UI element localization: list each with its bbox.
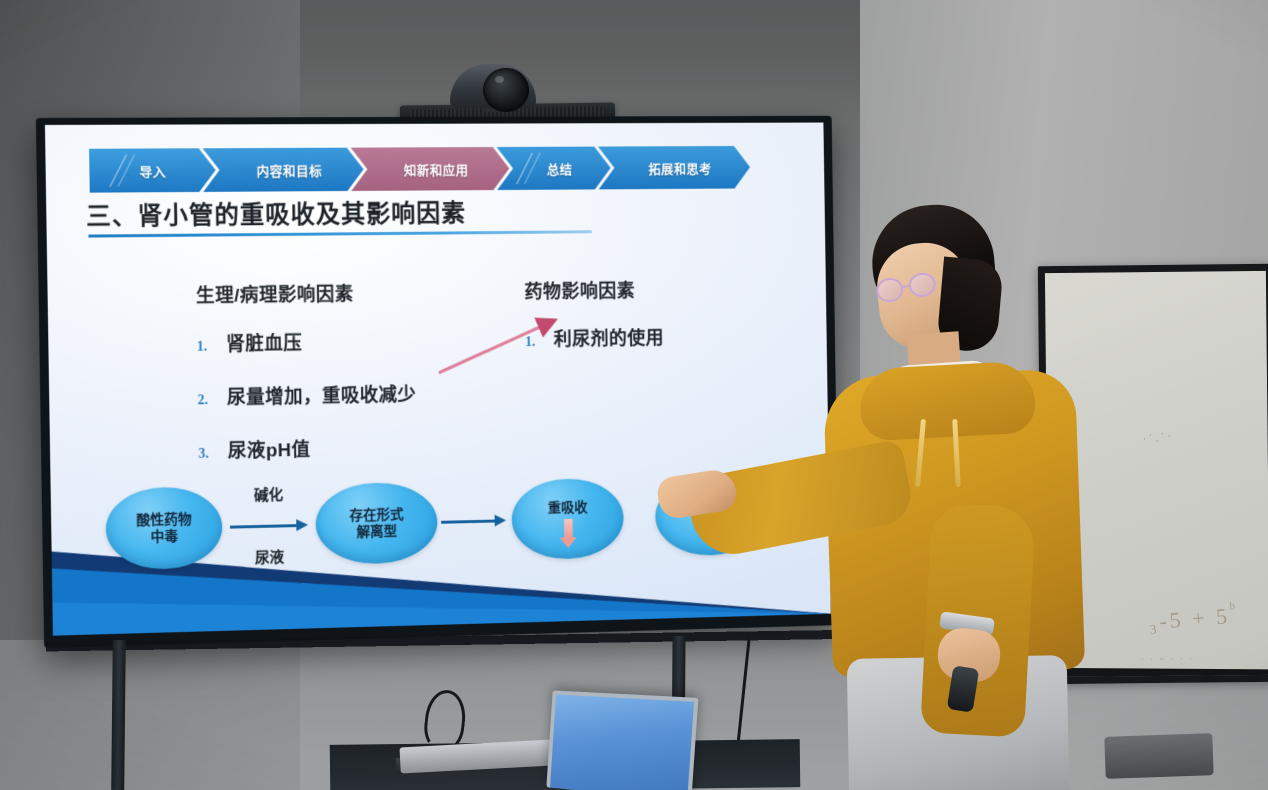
slide-title: 三、肾小管的重吸收及其影响因素 <box>86 194 466 232</box>
nav-step-label: 内容和目标 <box>256 160 322 179</box>
camera-lens-icon <box>483 68 529 112</box>
nav-step-new-knowledge-active[interactable]: 知新和应用 <box>351 147 510 191</box>
list-item-number: 1. <box>197 339 227 355</box>
connector-label-bottom: 尿液 <box>222 545 316 568</box>
nav-step-label: 导入 <box>139 161 166 180</box>
flow-node-line1: 酸性药物 <box>136 511 191 529</box>
nav-step-label: 知新和应用 <box>404 159 469 178</box>
glasses-lens-right <box>907 271 937 299</box>
whiteboard-scribble: · · ~ · · · <box>1141 654 1194 665</box>
nav-step-extension-reflection[interactable]: 拓展和思考 <box>598 146 750 189</box>
connector-label-top: 碱化 <box>222 483 316 506</box>
whiteboard-scribble: · ˙ , ˙ · <box>1142 430 1172 445</box>
tv-stand-leg-left <box>111 640 126 790</box>
equipment-box <box>1104 733 1213 779</box>
list-item-number: 3. <box>198 446 228 462</box>
flow-node-acid-drug-poisoning: 酸性药物 中毒 <box>105 486 223 570</box>
sparkle-decor <box>510 153 543 184</box>
nav-step-import[interactable]: 导入 <box>89 148 216 192</box>
flow-node-ionized-form: 存在形式 解离型 <box>315 482 438 565</box>
flow-node-line2: 解离型 <box>356 523 397 541</box>
list-item: 2. 尿量增加，重吸收减少 <box>197 379 507 411</box>
list-item-number: 2. <box>198 393 228 409</box>
nav-step-content-goals[interactable]: 内容和目标 <box>203 148 364 192</box>
nav-step-label: 总结 <box>547 159 573 178</box>
flow-node-line1: 存在形式 <box>349 506 403 524</box>
flow-connector-plain <box>437 475 513 567</box>
column-physiological-factors: 生理/病理影响因素 1. 肾脏血压 2. 尿量增加，重吸收减少 3. 尿液pH值 <box>196 278 509 491</box>
nav-step-summary[interactable]: 总结 <box>497 147 611 191</box>
conference-camera-icon <box>438 58 548 110</box>
list-item-label: 尿量增加，重吸收减少 <box>227 380 417 410</box>
flow-connector-alkalinize-urine: 碱化 尿液 <box>221 479 316 572</box>
presenter <box>650 205 1120 790</box>
hoodie-hood <box>858 360 1037 441</box>
connector-arrow-icon <box>230 524 298 529</box>
list-item-label: 利尿剂的使用 <box>553 324 664 352</box>
connector-arrow-icon <box>441 520 496 524</box>
flow-node-reabsorption: 重吸收 <box>511 478 624 560</box>
list-item: 3. 尿液pH值 <box>198 431 508 464</box>
down-arrow-icon <box>564 519 573 539</box>
column-heading: 生理/病理影响因素 <box>196 278 506 308</box>
glasses-lens-left <box>875 276 905 304</box>
classroom-scene: · ˙ , ˙ · ₃-5 + 5ᵇ · · ~ · · · 导入 内容 <box>0 0 1268 790</box>
list-item: 1. 肾脏血压 <box>197 326 507 357</box>
whiteboard-scribble: ₃-5 + 5ᵇ <box>1147 598 1239 635</box>
list-item-label: 尿液pH值 <box>228 435 311 463</box>
camera-body <box>450 64 536 108</box>
list-item-number: 1. <box>525 335 554 351</box>
sparkle-decor <box>103 155 137 187</box>
flow-node-line1: 重吸收 <box>548 499 588 517</box>
list-item-label: 肾脏血压 <box>226 329 303 357</box>
slide-nav: 导入 内容和目标 知新和应用 总结 拓展和思考 <box>89 146 798 193</box>
nav-step-label: 拓展和思考 <box>648 158 711 177</box>
flow-node-line2: 中毒 <box>150 528 178 546</box>
